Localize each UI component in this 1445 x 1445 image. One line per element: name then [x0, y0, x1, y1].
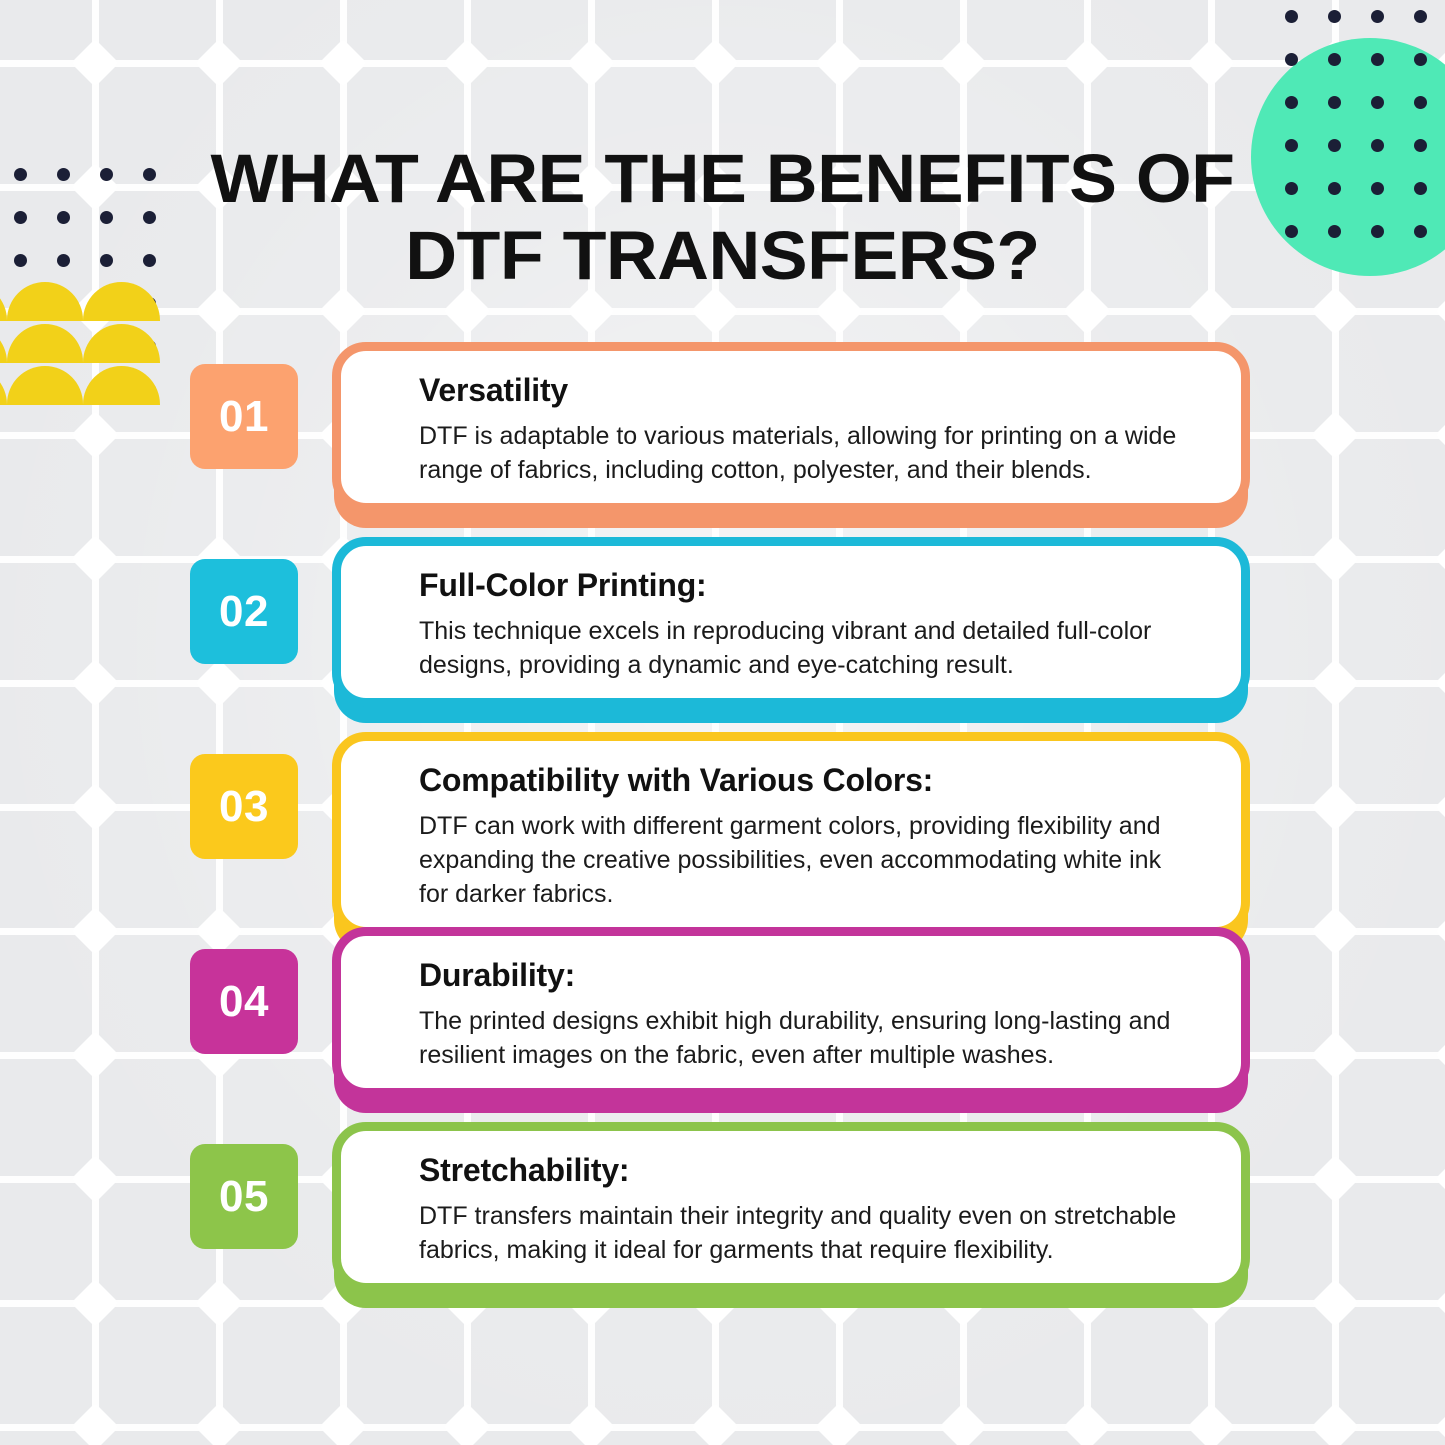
benefit-number-badge: 04	[190, 949, 298, 1054]
benefit-card-description: This technique excels in reproducing vib…	[419, 614, 1197, 682]
grid-node-diamond	[815, 1403, 863, 1445]
benefit-card-title: Durability:	[419, 956, 1197, 994]
grid-node-diamond	[939, 39, 987, 87]
decorative-dot	[14, 254, 27, 267]
benefit-card-description: The printed designs exhibit high durabil…	[419, 1004, 1197, 1072]
grid-node-diamond	[71, 1403, 119, 1445]
grid-node-diamond	[71, 39, 119, 87]
grid-node-diamond	[1435, 287, 1445, 335]
decorative-dot	[1328, 53, 1341, 66]
grid-node-diamond	[1311, 287, 1359, 335]
benefit-number-badge: 02	[190, 559, 298, 664]
decorative-dot	[1414, 182, 1427, 195]
decorative-dot	[1285, 10, 1298, 23]
decorative-dot	[100, 168, 113, 181]
benefit-number-badge: 01	[190, 364, 298, 469]
infographic-poster: WHAT ARE THE BENEFITS OF DTF TRANSFERS? …	[0, 0, 1445, 1445]
grid-node-diamond	[1187, 39, 1235, 87]
page-title: WHAT ARE THE BENEFITS OF DTF TRANSFERS?	[148, 140, 1297, 295]
decorative-dot	[1371, 225, 1384, 238]
half-circle-shape	[0, 282, 7, 321]
grid-node-diamond	[1063, 39, 1111, 87]
benefit-card-description: DTF transfers maintain their integrity a…	[419, 1199, 1197, 1267]
grid-node-diamond	[319, 1403, 367, 1445]
benefit-row: 03Compatibility with Various Colors:DTF …	[0, 726, 1445, 921]
benefit-card-description: DTF is adaptable to various materials, a…	[419, 419, 1197, 487]
benefit-card: VersatilityDTF is adaptable to various m…	[332, 342, 1250, 512]
benefit-card-title: Compatibility with Various Colors:	[419, 761, 1197, 799]
grid-node-diamond	[1187, 1403, 1235, 1445]
benefit-card: Compatibility with Various Colors:DTF ca…	[332, 732, 1250, 936]
grid-node-diamond	[691, 39, 739, 87]
decorative-dot	[1371, 96, 1384, 109]
decorative-dot	[1371, 182, 1384, 195]
half-circle-row	[0, 282, 160, 321]
decorative-dot	[1285, 53, 1298, 66]
decorative-dot	[1371, 139, 1384, 152]
benefit-card: Full-Color Printing:This technique excel…	[332, 537, 1250, 707]
benefit-row: 04Durability:The printed designs exhibit…	[0, 921, 1445, 1116]
benefit-number-badge: 03	[190, 754, 298, 859]
grid-node-diamond	[319, 39, 367, 87]
decorative-dot	[57, 211, 70, 224]
half-circle-shape	[7, 282, 84, 321]
dot-grid-top-right-decoration	[1285, 10, 1427, 238]
benefit-card-description: DTF can work with different garment colo…	[419, 809, 1197, 911]
grid-node-diamond	[567, 1403, 615, 1445]
grid-node-diamond	[691, 1403, 739, 1445]
decorative-dot	[1328, 182, 1341, 195]
decorative-dot	[57, 168, 70, 181]
grid-node-diamond	[195, 1403, 243, 1445]
benefit-card-title: Full-Color Printing:	[419, 566, 1197, 604]
decorative-dot	[14, 168, 27, 181]
grid-node-diamond	[1063, 1403, 1111, 1445]
decorative-dot	[1328, 10, 1341, 23]
decorative-dot	[1414, 10, 1427, 23]
benefit-number-badge: 05	[190, 1144, 298, 1249]
grid-node-diamond	[815, 39, 863, 87]
benefit-card-title: Stretchability:	[419, 1151, 1197, 1189]
decorative-dot	[100, 211, 113, 224]
decorative-dot	[100, 254, 113, 267]
benefits-list: 01VersatilityDTF is adaptable to various…	[0, 336, 1445, 1311]
decorative-dot	[1285, 96, 1298, 109]
decorative-dot	[1328, 225, 1341, 238]
benefit-card: Stretchability:DTF transfers maintain th…	[332, 1122, 1250, 1292]
decorative-dot	[1371, 10, 1384, 23]
decorative-dot	[1328, 96, 1341, 109]
benefit-row: 02Full-Color Printing:This technique exc…	[0, 531, 1445, 726]
benefit-card: Durability:The printed designs exhibit h…	[332, 927, 1250, 1097]
grid-node-diamond	[443, 1403, 491, 1445]
decorative-dot	[1414, 96, 1427, 109]
decorative-dot	[1328, 139, 1341, 152]
decorative-dot	[1414, 139, 1427, 152]
decorative-dot	[14, 211, 27, 224]
decorative-dot	[57, 254, 70, 267]
benefit-row: 01VersatilityDTF is adaptable to various…	[0, 336, 1445, 531]
decorative-dot	[1371, 53, 1384, 66]
decorative-dot	[1414, 225, 1427, 238]
benefit-row: 05Stretchability:DTF transfers maintain …	[0, 1116, 1445, 1311]
benefit-card-title: Versatility	[419, 371, 1197, 409]
grid-node-diamond	[567, 39, 615, 87]
grid-node-diamond	[1435, 1403, 1445, 1445]
decorative-dot	[1414, 53, 1427, 66]
grid-node-diamond	[939, 1403, 987, 1445]
grid-node-diamond	[443, 39, 491, 87]
grid-node-diamond	[1311, 1403, 1359, 1445]
grid-node-diamond	[195, 39, 243, 87]
